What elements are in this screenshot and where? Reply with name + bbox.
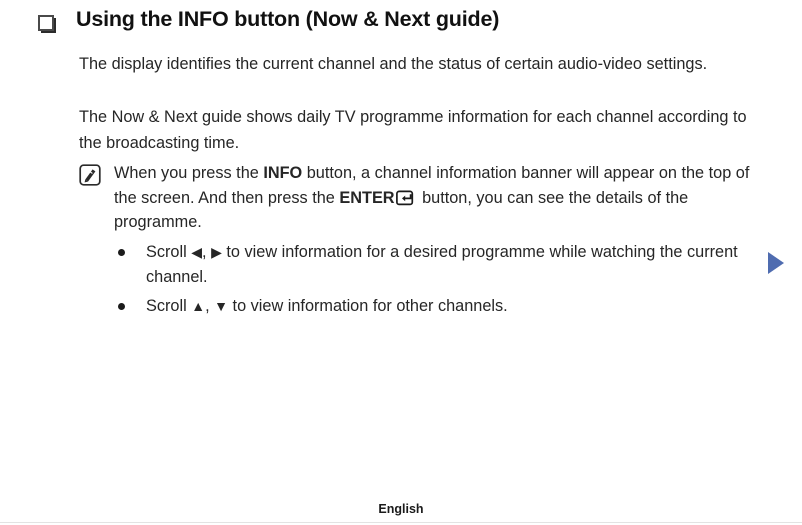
note-segment-text-1: When you press the [114,164,263,182]
page-heading: Using the INFO button (Now & Next guide) [38,6,762,35]
note-pencil-icon [79,164,101,186]
bullet-2-separator: , [205,297,214,315]
bullet-1-prefix: Scroll [146,243,191,261]
bullet-2-prefix: Scroll [146,297,191,315]
note-text: When you press the INFO button, a channe… [114,161,759,235]
note-segment-bold-info: INFO [263,164,302,182]
down-arrow-icon: ▼ [214,298,228,314]
footer-language-label: English [0,502,802,516]
up-arrow-icon: ▲ [191,298,205,314]
body-paragraph-2: The Now & Next guide shows daily TV prog… [79,104,751,156]
bullet-dot-icon [118,249,125,256]
bullet-1-suffix: to view information for a desired progra… [146,243,738,286]
manual-page: Using the INFO button (Now & Next guide)… [0,0,802,525]
bullet-list: Scroll ◀, ▶ to view information for a de… [118,240,763,324]
bullet-2-suffix: to view information for other channels. [228,297,508,315]
list-item-text: Scroll ◀, ▶ to view information for a de… [146,240,763,289]
list-item: Scroll ▲, ▼ to view information for othe… [118,294,763,319]
list-item: Scroll ◀, ▶ to view information for a de… [118,240,763,289]
bullet-1-separator: , [202,243,211,261]
left-arrow-icon: ◀ [191,244,202,260]
enter-key-icon [396,189,417,205]
right-arrow-icon: ▶ [211,244,222,260]
bullet-dot-icon [118,303,125,310]
page-title: Using the INFO button (Now & Next guide) [76,6,499,34]
hollow-square-bullet-icon [38,15,58,35]
footer-divider [0,522,802,523]
note-block: When you press the INFO button, a channe… [79,161,759,235]
note-segment-bold-enter: ENTER [339,189,394,207]
list-item-text: Scroll ▲, ▼ to view information for othe… [146,294,763,319]
body-paragraph-1: The display identifies the current chann… [79,51,751,77]
next-page-arrow-icon[interactable] [768,252,784,274]
